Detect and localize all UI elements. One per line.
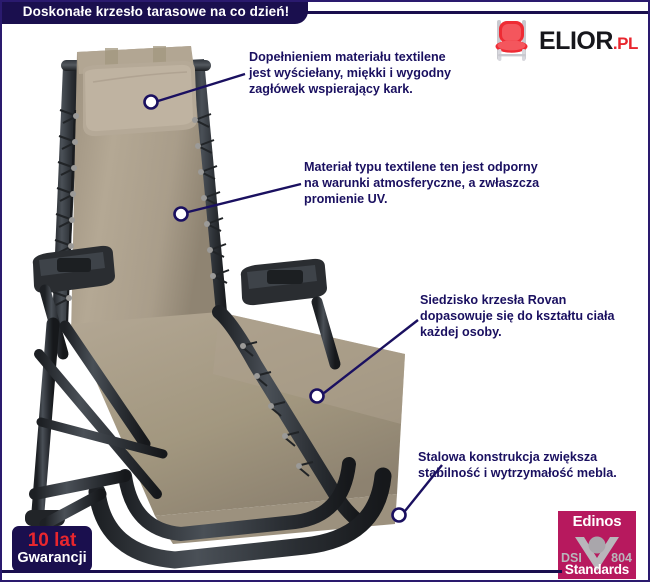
edinos-standards-badge: Edinos DSI 804 Standards [558, 511, 636, 579]
header-banner: Doskonałe krzesło tarasowe na co dzień! [0, 0, 308, 24]
callout-text-headrest: Dopełnieniem materiału textilene jest wy… [249, 49, 509, 97]
logo-suffix: .PL [613, 34, 638, 53]
brand-logo: ELIOR.PL [489, 18, 638, 64]
edinos-subtitle: Standards [558, 562, 636, 577]
callout-text-textilene: Materiał typu textilene ten jest odporny… [304, 159, 594, 207]
warranty-years: 10 lat [28, 531, 77, 550]
banner-title: Doskonałe krzesło tarasowe na co dzień! [23, 4, 289, 19]
callout-text-seat: Siedzisko krzesła Rovan dopasowuje się d… [420, 292, 645, 340]
warranty-label: Gwarancji [17, 550, 86, 567]
warranty-badge: 10 lat Gwarancji [12, 526, 92, 572]
logo-wordmark: ELIOR.PL [539, 29, 638, 54]
logo-name: ELIOR [539, 27, 613, 55]
product-photo [5, 24, 425, 569]
infographic-root: Doskonałe krzesło tarasowe na co dzień! … [0, 0, 650, 582]
footer-rule [2, 570, 562, 573]
callout-text-frame: Stalowa konstrukcja zwiększa stabilność … [418, 449, 648, 481]
